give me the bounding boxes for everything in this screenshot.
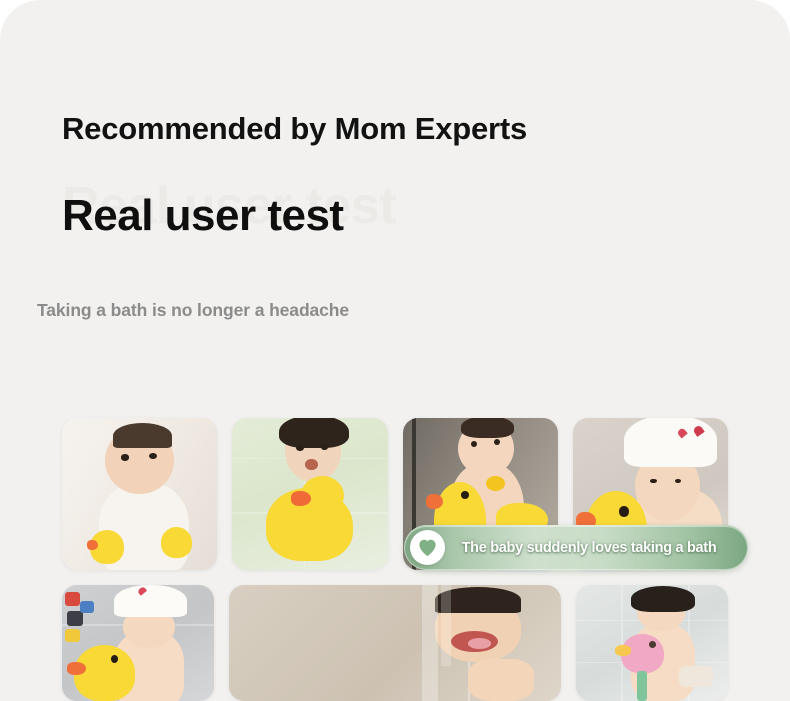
gallery-photo-7[interactable] [576,585,728,701]
photo-scene-toddler-duck-float [232,418,387,570]
photo-scene-baby-water-play [229,585,561,701]
heart-icon [410,530,445,565]
photo-scene-toddler-pink-duck [576,585,728,701]
gallery-photo-5[interactable] [62,585,214,701]
gallery-photo-2[interactable] [232,418,387,570]
status-badge[interactable]: The baby suddenly loves taking a bath [404,525,748,570]
status-badge-label: The baby suddenly loves taking a bath [445,540,747,556]
photo-scene-baby-towel-duck [62,418,217,570]
gallery-photo-1[interactable] [62,418,217,570]
hero-subtitle-large: Real user test [62,193,344,239]
promo-page: Real user test Recommended by Mom Expert… [0,0,790,701]
hero-tagline: Taking a bath is no longer a headache [37,300,349,321]
hero-heading-block: Recommended by Mom Experts [62,112,742,146]
gallery-photo-6[interactable] [229,585,561,701]
page-title: Recommended by Mom Experts [62,112,742,146]
photo-scene-baby-toys-duck [62,585,214,701]
gallery-row-bottom [0,585,790,701]
